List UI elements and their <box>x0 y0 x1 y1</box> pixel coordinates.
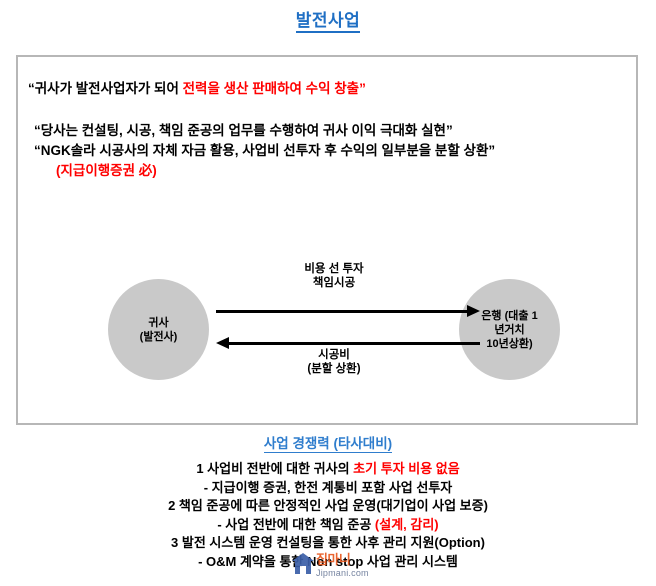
list-item: - 지급이행 증권, 한전 계통비 포함 사업 선투자 <box>0 479 656 498</box>
list-item: 2 책임 준공에 따른 안정적인 사업 운영(대기업이 사업 보증) <box>0 497 656 516</box>
page-title: 발전사업 <box>0 0 656 32</box>
list-item: 1 사업비 전반에 대한 귀사의 초기 투자 비용 없음 <box>0 460 656 479</box>
comp-3-text: 3 발전 시스템 운영 컨설팅을 통한 사후 관리 지원(Option) <box>171 535 485 550</box>
bank-node-line1: 은행 (대출 1 <box>481 309 537 323</box>
comp-1-text: 1 사업비 전반에 대한 귀사의 <box>196 461 353 476</box>
bank-node-line2: 년거치 <box>481 323 537 337</box>
arrow-label-outbound-line1: 비용 선 투자 <box>234 262 434 276</box>
comp-1a-text: - 지급이행 증권, 한전 계통비 포함 사업 선투자 <box>204 480 453 495</box>
quote-3-text: “NGK솔라 시공사의 자체 자금 활용, 사업비 선투자 후 수익의 일부분을… <box>34 143 495 158</box>
list-item: 3 발전 시스템 운영 컨설팅을 통한 사후 관리 지원(Option) <box>0 534 656 553</box>
diagram-node-company: 귀사 (발전사) <box>108 279 209 380</box>
comp-2a-text: - 사업 전반에 대한 책임 준공 <box>217 517 375 532</box>
quote-line-2: “당사는 컨설팅, 시공, 책임 준공의 업무를 수행하여 귀사 이익 극대화 … <box>28 121 628 141</box>
diagram-node-bank: 은행 (대출 1 년거치 10년상환) <box>459 279 560 380</box>
section-title-text: 사업 경쟁력 (타사대비) <box>264 436 392 453</box>
arrow-label-outbound: 비용 선 투자 책임시공 <box>234 262 434 290</box>
flow-diagram: 귀사 (발전사) 은행 (대출 1 년거치 10년상환) 비용 선 투자 책임시… <box>18 262 636 412</box>
quote-line-1: “귀사가 발전사업자가 되어 전력을 생산 판매하여 수익 창출” <box>28 79 628 99</box>
comp-1-highlight: 초기 투자 비용 없음 <box>353 461 460 476</box>
house-roof-icon <box>292 553 314 561</box>
arrow-label-inbound-line1: 시공비 <box>234 348 434 362</box>
quote-block: “귀사가 발전사업자가 되어 전력을 생산 판매하여 수익 창출” “당사는 컨… <box>28 79 628 181</box>
comp-2a-highlight: (설계, 감리) <box>375 517 439 532</box>
arrow-left-shaft <box>225 342 480 345</box>
company-node-line1: 귀사 <box>140 316 178 330</box>
quote-line-4: (지급이행증권 必) <box>28 161 628 181</box>
quote-2-text: “당사는 컨설팅, 시공, 책임 준공의 업무를 수행하여 귀사 이익 극대화 … <box>34 123 453 138</box>
page-title-text: 발전사업 <box>296 11 361 33</box>
arrow-right-icon <box>216 304 480 318</box>
company-node-line2: (발전사) <box>140 330 178 344</box>
watermark: 집마니 Jipmani.com <box>292 553 378 584</box>
watermark-url: Jipmani.com <box>316 568 369 579</box>
house-door-icon <box>300 566 306 574</box>
watermark-brand: 집마니 <box>316 552 350 568</box>
comp-2-text: 2 책임 준공에 따른 안정적인 사업 운영(대기업이 사업 보증) <box>168 498 488 513</box>
arrow-label-inbound-line2: (분할 상환) <box>234 362 434 376</box>
quote-4-highlight: (지급이행증권 必) <box>56 163 157 178</box>
bank-node-line3: 10년상환) <box>481 337 537 351</box>
quote-1-prefix: “귀사가 발전사업자가 되어 <box>28 81 183 96</box>
arrow-right-head <box>467 305 480 317</box>
arrow-label-inbound: 시공비 (분할 상환) <box>234 348 434 376</box>
list-item: - 사업 전반에 대한 책임 준공 (설계, 감리) <box>0 516 656 535</box>
content-panel: “귀사가 발전사업자가 되어 전력을 생산 판매하여 수익 창출” “당사는 컨… <box>16 55 638 425</box>
arrow-label-outbound-line2: 책임시공 <box>234 276 434 290</box>
quote-line-3: “NGK솔라 시공사의 자체 자금 활용, 사업비 선투자 후 수익의 일부분을… <box>28 141 628 161</box>
house-icon <box>292 553 314 575</box>
section-title-competitiveness: 사업 경쟁력 (타사대비) <box>0 435 656 453</box>
arrow-right-shaft <box>216 310 471 313</box>
arrow-left-head <box>216 337 229 349</box>
quote-1-highlight: 전력을 생산 판매하여 수익 창출” <box>183 81 366 96</box>
